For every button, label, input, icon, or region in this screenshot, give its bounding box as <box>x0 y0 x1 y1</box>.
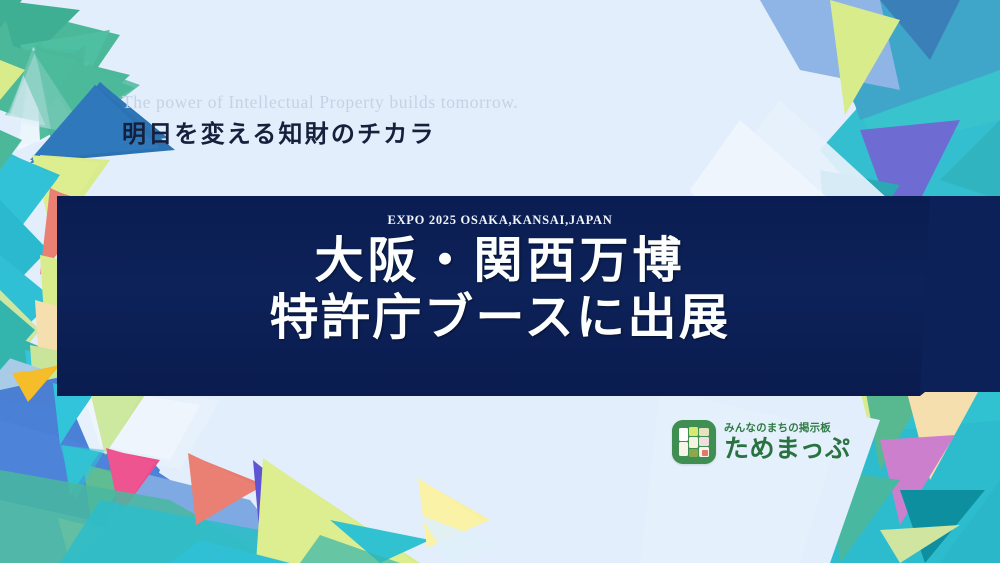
tamemap-logo[interactable]: みんなのまちの掲示板 ためまっぷ <box>672 420 851 464</box>
tagline-block: The power of Intellectual Property build… <box>122 92 518 149</box>
tamemap-logo-name: ためまっぷ <box>724 436 851 461</box>
tagline-japanese: 明日を変える知財のチカラ <box>122 118 518 149</box>
tamemap-logo-icon <box>672 420 716 464</box>
tagline-english: The power of Intellectual Property build… <box>122 92 518 114</box>
expo-poster: The power of Intellectual Property build… <box>0 0 1000 563</box>
tamemap-logo-text: みんなのまちの掲示板 ためまっぷ <box>724 423 851 461</box>
tamemap-logo-subtitle: みんなのまちの掲示板 <box>724 423 851 434</box>
banner-shape <box>0 196 1000 396</box>
navy-banner: EXPO 2025 OSAKA,KANSAI,JAPAN 大阪・関西万博 特許庁… <box>0 196 1000 396</box>
